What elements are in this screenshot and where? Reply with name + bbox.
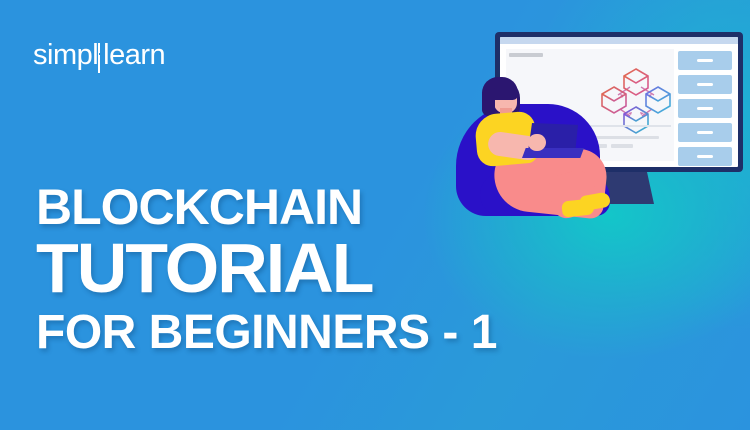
sidebar-card[interactable]	[678, 51, 732, 70]
title-line-tutorial: TUTORIAL	[36, 235, 497, 302]
hero-illustration	[452, 22, 750, 222]
cube-bottom	[624, 107, 648, 133]
logo-separator-bar	[98, 43, 100, 73]
person-hand	[528, 134, 546, 151]
screen-top-bar	[500, 37, 738, 44]
cube-left	[602, 87, 626, 113]
logo-text-left: simpl	[33, 39, 98, 71]
placeholder-line	[611, 144, 633, 148]
cube-top	[624, 69, 648, 95]
cube-right	[646, 87, 670, 113]
sidebar-card-list	[678, 51, 732, 167]
sidebar-card[interactable]	[678, 99, 732, 118]
page-title: BLOCKCHAIN TUTORIAL FOR BEGINNERS - 1	[36, 183, 497, 356]
screen-title-placeholder	[509, 53, 543, 57]
video-thumbnail-canvas: simpllearn BLOCKCHAIN TUTORIAL FOR BEGIN…	[0, 0, 750, 430]
sidebar-card[interactable]	[678, 123, 732, 142]
sidebar-card[interactable]	[678, 147, 732, 166]
title-line-blockchain: BLOCKCHAIN	[36, 183, 497, 231]
simplilearn-logo: simpllearn	[33, 41, 165, 73]
title-line-for-beginners: FOR BEGINNERS - 1	[36, 310, 497, 356]
sidebar-card[interactable]	[678, 75, 732, 94]
person-hair-side	[482, 88, 495, 116]
logo-text-right: learn	[103, 39, 165, 71]
logo-separator-dot	[99, 53, 101, 55]
